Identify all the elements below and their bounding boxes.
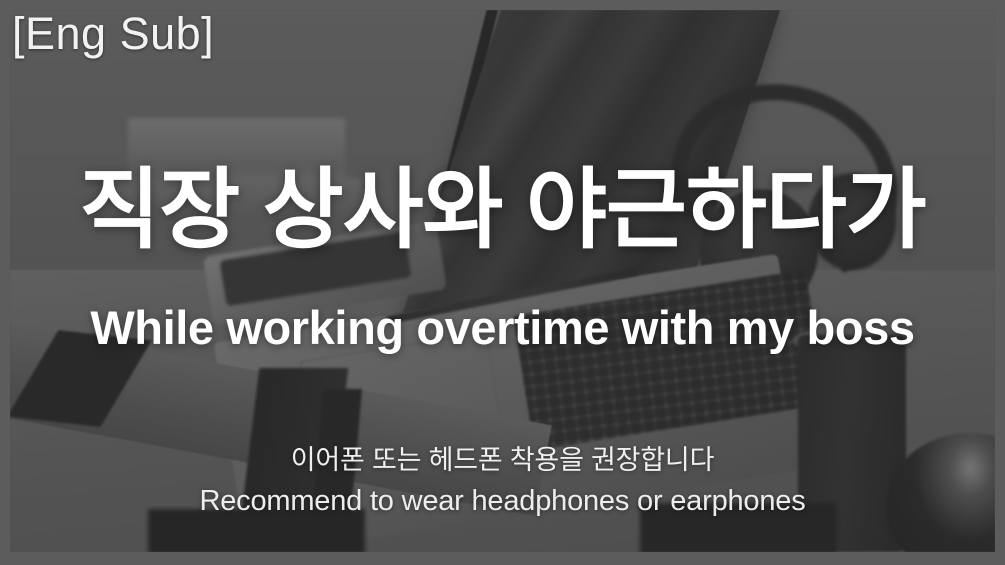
notice-korean: 이어폰 또는 헤드폰 착용을 권장합니다 [0, 442, 1005, 478]
title-english: While working overtime with my boss [0, 300, 1005, 355]
text-overlay: [Eng Sub] 직장 상사와 야근하다가 While working ove… [0, 0, 1005, 565]
video-title-card: [Eng Sub] 직장 상사와 야근하다가 While working ove… [0, 0, 1005, 565]
notice-english: Recommend to wear headphones or earphone… [0, 483, 1005, 521]
title-korean: 직장 상사와 야근하다가 [0, 162, 1005, 257]
headphone-notice: 이어폰 또는 헤드폰 착용을 권장합니다 Recommend to wear h… [0, 442, 1005, 521]
eng-sub-badge: [Eng Sub] [12, 8, 214, 60]
